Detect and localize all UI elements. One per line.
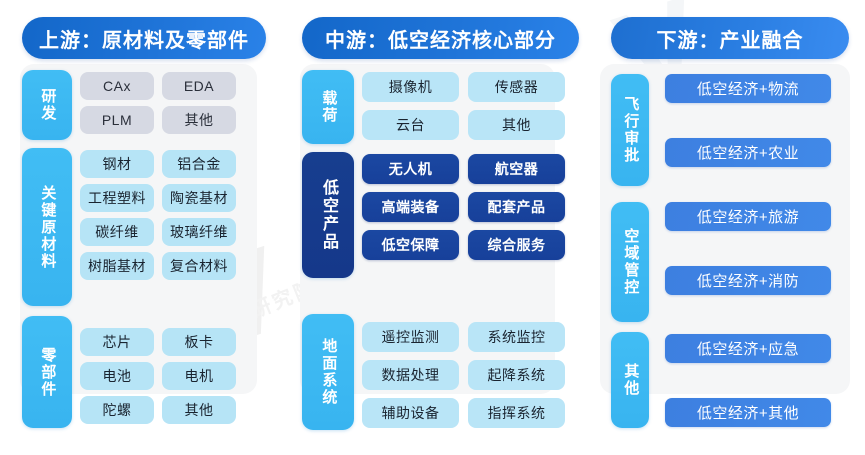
group-label-key-materials[interactable]: 关键原材料 [22, 148, 72, 306]
header-downstream: 下游：产业融合 [611, 17, 849, 59]
chip-low-altitude-support[interactable]: 低空保障 [362, 230, 459, 260]
group-label-ground-system[interactable]: 地面系统 [302, 314, 354, 430]
group-label-rd-text: 研发 [39, 88, 56, 122]
group-label-downstream-other[interactable]: 其他 [611, 332, 649, 428]
group-label-components-text: 零部件 [39, 347, 56, 398]
chip-glass-fiber[interactable]: 玻璃纤维 [162, 218, 236, 246]
group-label-payload[interactable]: 载荷 [302, 70, 354, 144]
chip-tourism[interactable]: 低空经济+旅游 [665, 202, 831, 231]
chip-ceramic-substrate[interactable]: 陶瓷基材 [162, 184, 236, 212]
group-label-payload-text: 载荷 [320, 90, 337, 124]
chip-components-other[interactable]: 其他 [162, 396, 236, 424]
group-label-low-altitude-products[interactable]: 低空产品 [302, 152, 354, 278]
header-upstream: 上游：原材料及零部件 [22, 17, 266, 59]
header-midstream: 中游：低空经济核心部分 [302, 17, 579, 59]
chip-cax[interactable]: CAx [80, 72, 154, 100]
chip-camera[interactable]: 摄像机 [362, 72, 459, 102]
chip-aluminum-alloy[interactable]: 铝合金 [162, 150, 236, 178]
group-label-components[interactable]: 零部件 [22, 316, 72, 428]
chip-battery[interactable]: 电池 [80, 362, 154, 390]
chip-board-card[interactable]: 板卡 [162, 328, 236, 356]
chip-resin-substrate[interactable]: 树脂基材 [80, 252, 154, 280]
group-label-low-altitude-products-text: 低空产品 [319, 179, 337, 251]
chip-motor[interactable]: 电机 [162, 362, 236, 390]
column-midstream: 中游：低空经济核心部分 载荷 摄像机 传感器 云台 其他 低空产品 无人机 航空… [288, 0, 595, 455]
chip-data-processing[interactable]: 数据处理 [362, 360, 459, 390]
chip-emergency[interactable]: 低空经济+应急 [665, 334, 831, 363]
chip-payload-other[interactable]: 其他 [468, 110, 565, 140]
group-label-rd[interactable]: 研发 [22, 70, 72, 140]
group-label-key-materials-text: 关键原材料 [39, 185, 56, 270]
chip-gimbal[interactable]: 云台 [362, 110, 459, 140]
chip-eda[interactable]: EDA [162, 72, 236, 100]
chip-aircraft[interactable]: 航空器 [468, 154, 565, 184]
column-upstream: 上游：原材料及零部件 研发 CAx EDA PLM 其他 关键原材料 钢材 铝合… [0, 0, 288, 455]
chip-sensor[interactable]: 传感器 [468, 72, 565, 102]
chip-chip[interactable]: 芯片 [80, 328, 154, 356]
chip-takeoff-landing-system[interactable]: 起降系统 [468, 360, 565, 390]
chip-rd-other[interactable]: 其他 [162, 106, 236, 134]
chip-supporting-products[interactable]: 配套产品 [468, 192, 565, 222]
chip-composite-material[interactable]: 复合材料 [162, 252, 236, 280]
chip-high-end-equipment[interactable]: 高端装备 [362, 192, 459, 222]
chip-steel[interactable]: 钢材 [80, 150, 154, 178]
group-label-downstream-other-text: 其他 [622, 363, 639, 397]
chip-firefighting[interactable]: 低空经济+消防 [665, 266, 831, 295]
chip-gyroscope[interactable]: 陀螺 [80, 396, 154, 424]
group-label-airspace-control-text: 空域管控 [622, 228, 639, 296]
group-label-flight-approval-text: 飞行审批 [622, 96, 639, 164]
group-label-airspace-control[interactable]: 空域管控 [611, 202, 649, 322]
chip-downstream-other[interactable]: 低空经济+其他 [665, 398, 831, 427]
group-label-flight-approval[interactable]: 飞行审批 [611, 74, 649, 186]
chip-auxiliary-equipment[interactable]: 辅助设备 [362, 398, 459, 428]
chip-engineering-plastic[interactable]: 工程塑料 [80, 184, 154, 212]
chip-carbon-fiber[interactable]: 碳纤维 [80, 218, 154, 246]
group-label-ground-system-text: 地面系统 [320, 338, 337, 406]
column-downstream: 下游：产业融合 飞行审批 低空经济+物流 低空经济+农业 空域管控 低空经济+旅… [595, 0, 865, 455]
chip-agriculture[interactable]: 低空经济+农业 [665, 138, 831, 167]
chip-system-supervision[interactable]: 系统监控 [468, 322, 565, 352]
chip-uav[interactable]: 无人机 [362, 154, 459, 184]
chip-remote-monitoring[interactable]: 遥控监测 [362, 322, 459, 352]
chip-integrated-services[interactable]: 综合服务 [468, 230, 565, 260]
chip-command-system[interactable]: 指挥系统 [468, 398, 565, 428]
chip-plm[interactable]: PLM [80, 106, 154, 134]
chip-logistics[interactable]: 低空经济+物流 [665, 74, 831, 103]
